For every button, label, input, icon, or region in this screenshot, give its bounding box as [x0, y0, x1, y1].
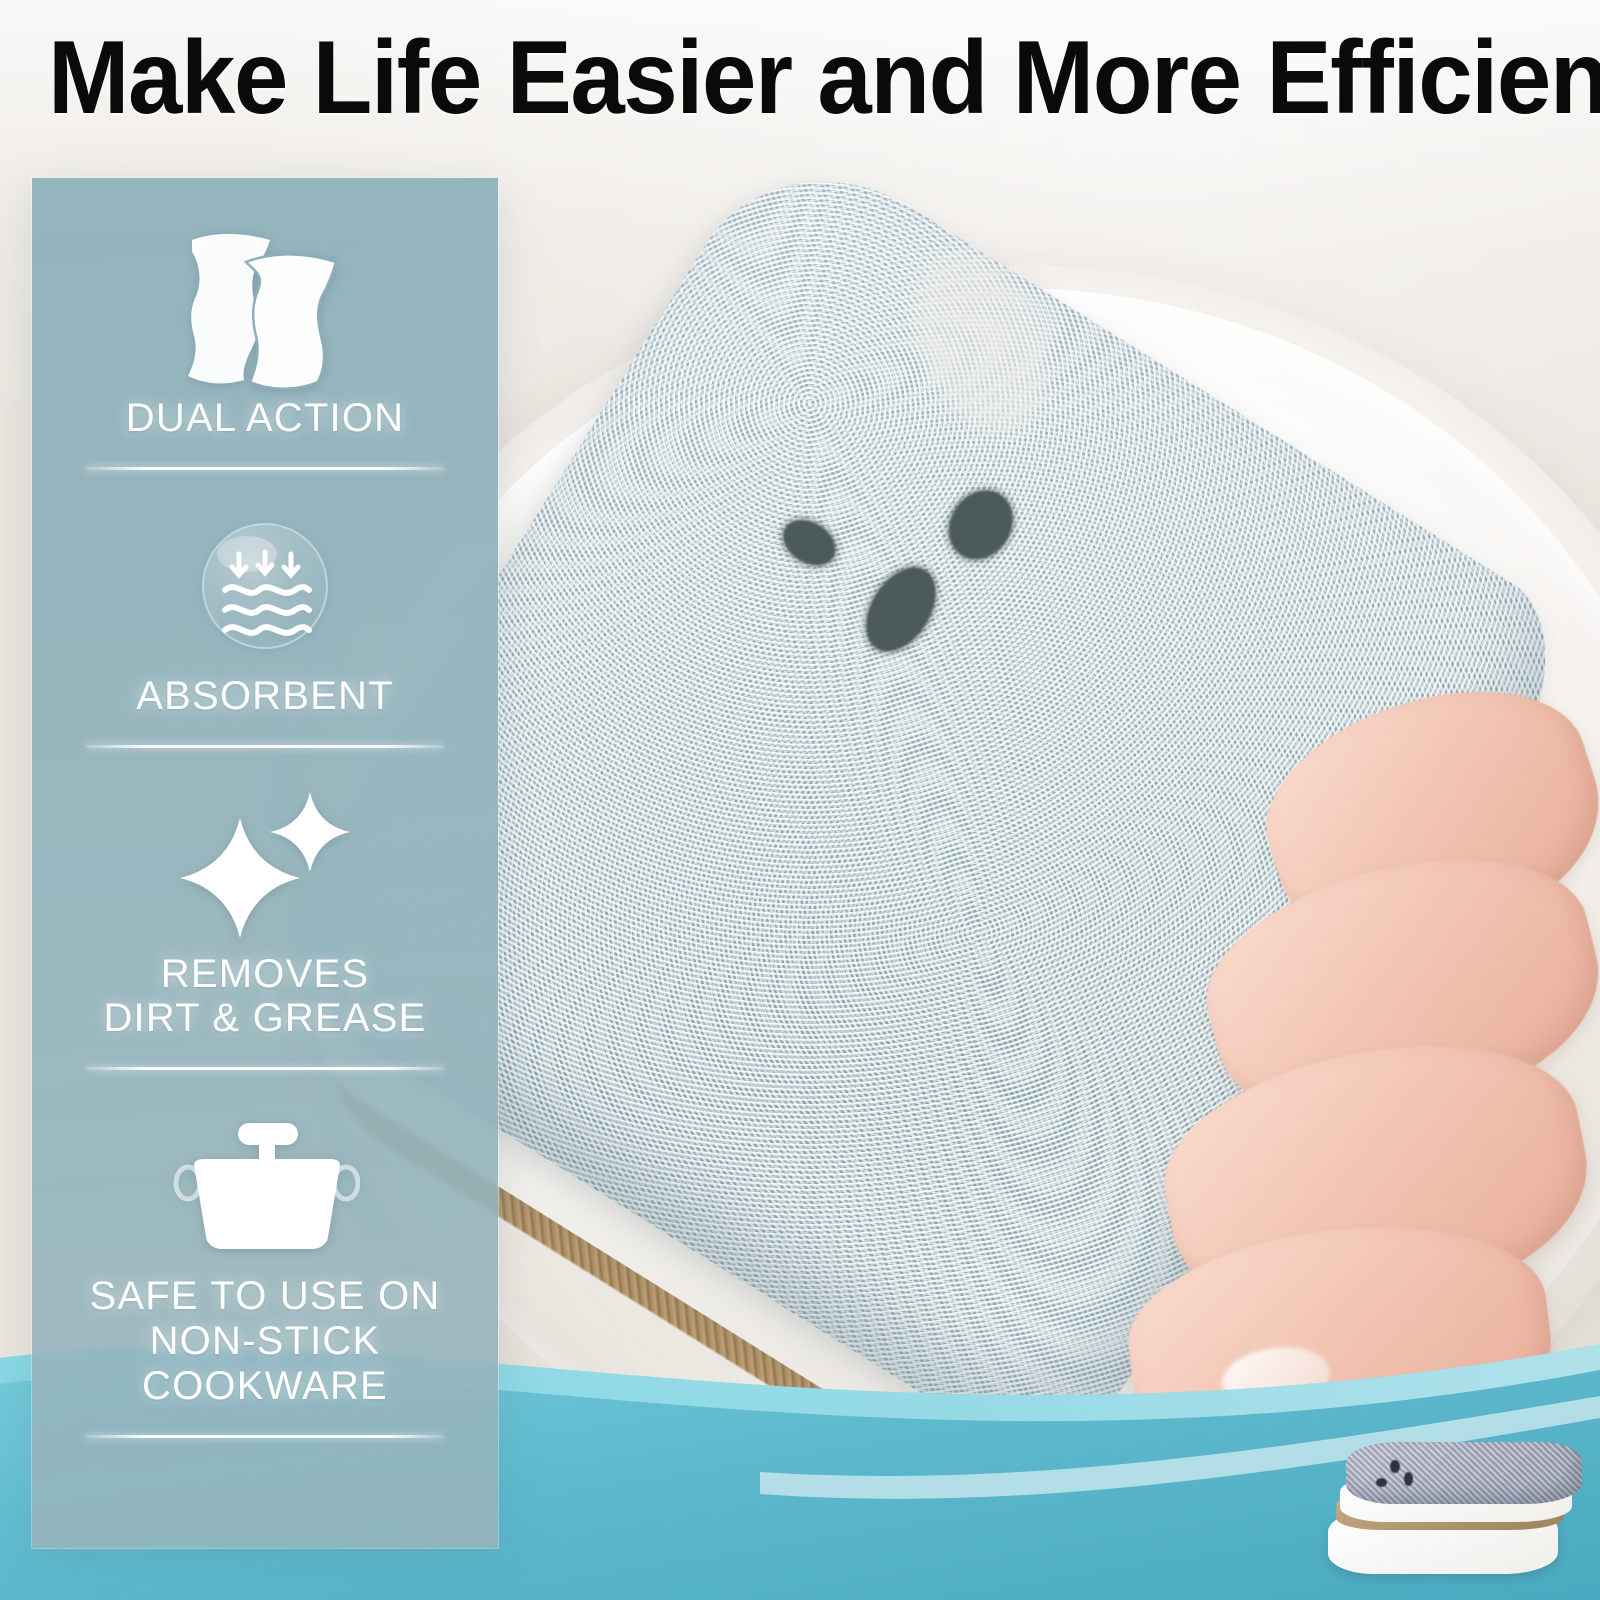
spacer: [32, 748, 498, 780]
feature-divider: [86, 745, 444, 748]
inset-sponge-hole: [1390, 1460, 1400, 1473]
sponge-hole: [775, 511, 844, 575]
feature-panel: DUAL ACTION: [32, 178, 498, 1548]
feature-removes-dirt-grease: REMOVES DIRT & GREASE: [32, 780, 498, 1071]
inset-sponge-hole: [1404, 1472, 1413, 1486]
sponge-hole: [852, 555, 950, 664]
feature-divider: [86, 1435, 444, 1438]
dual-sponge-icon: [54, 224, 476, 392]
sparkles-icon: [54, 780, 476, 948]
inset-product-photo: [1320, 1428, 1590, 1593]
feature-divider: [86, 1067, 444, 1070]
spacer: [32, 1070, 498, 1102]
feature-nonstick-safe: SAFE TO USE ON NON-STICK COOKWARE: [32, 1102, 498, 1437]
page-title: Make Life Easier and More Efficient: [48, 22, 1552, 134]
feature-label: REMOVES DIRT & GREASE: [103, 952, 426, 1042]
feature-dual-action: DUAL ACTION: [32, 224, 498, 470]
inset-sponge-hole: [1376, 1478, 1387, 1487]
feature-divider: [86, 467, 444, 470]
water-droplet-absorb-icon: [54, 502, 476, 670]
sponge-hole: [936, 478, 1025, 571]
feature-absorbent: ABSORBENT: [32, 502, 498, 748]
feature-label: DUAL ACTION: [126, 396, 404, 441]
spacer: [32, 470, 498, 502]
feature-label: ABSORBENT: [136, 674, 394, 719]
cookware-pot-icon: [54, 1102, 476, 1270]
feature-label: SAFE TO USE ON NON-STICK COOKWARE: [54, 1274, 476, 1408]
inset-blue-scrub-layer: [1346, 1442, 1582, 1504]
